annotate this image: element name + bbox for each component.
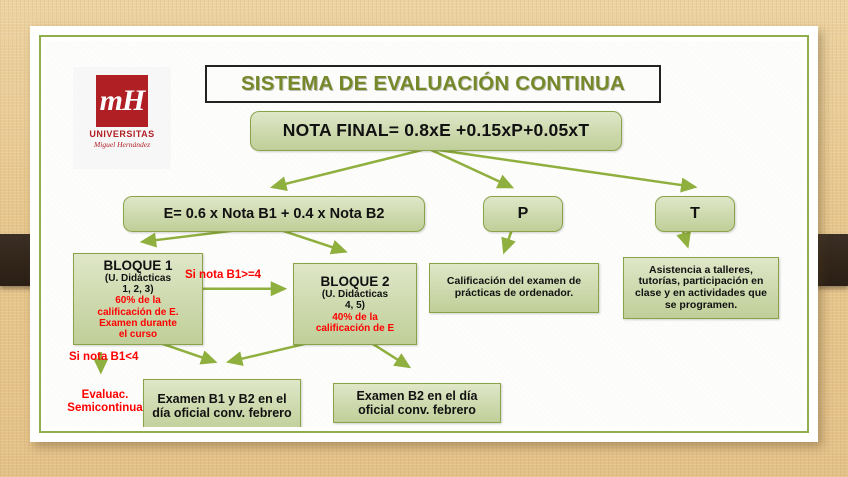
- bloque-2-title: BLOQUE 2: [316, 274, 394, 289]
- node-p: P: [483, 196, 563, 232]
- bloque-1-red-3: Examen durante: [97, 318, 178, 329]
- bloque-1-sub-2: 1, 2, 3): [97, 284, 178, 295]
- node-examen-b1-b2: Examen B1 y B2 en el día oficial conv. f…: [143, 379, 301, 427]
- node-examen-b2: Examen B2 en el día oficial conv. febrer…: [333, 383, 501, 423]
- bloque-2-sub-1: (U. Didácticas: [316, 289, 394, 300]
- bloque-1-red-4: el curso: [97, 329, 178, 340]
- node-t-label: T: [686, 204, 704, 224]
- bloque-1-title: BLOQUE 1: [97, 258, 178, 273]
- node-bloque-1: BLOQUE 1 (U. Didácticas 1, 2, 3) 60% de …: [73, 253, 203, 345]
- node-asistencia-label: Asistencia a talleres, tutorías, partici…: [624, 264, 778, 313]
- slide-frame: mH UNIVERSITAS Miguel Hernández SISTEMA …: [30, 26, 818, 442]
- logo-university-name: Miguel Hernández: [73, 140, 171, 149]
- university-logo: mH UNIVERSITAS Miguel Hernández: [73, 67, 171, 169]
- node-asistencia: Asistencia a talleres, tutorías, partici…: [623, 257, 779, 319]
- node-e-formula-label: E= 0.6 x Nota B1 + 0.4 x Nota B2: [160, 205, 389, 223]
- slide-inner-border: mH UNIVERSITAS Miguel Hernández SISTEMA …: [39, 35, 809, 433]
- node-examen-b1-b2-label: Examen B1 y B2 en el día oficial conv. f…: [144, 391, 300, 421]
- node-nota-final: NOTA FINAL= 0.8xE +0.15xP+0.05xT: [250, 111, 622, 151]
- label-si-nota-b1-menor-4: Si nota B1<4: [69, 351, 138, 364]
- logo-mark: mH: [96, 75, 148, 127]
- bloque-2-sub-2: 4, 5): [316, 300, 394, 311]
- bloque-2-red-1: 40% de la: [316, 312, 394, 323]
- node-calificacion-practicas: Calificación del examen de prácticas de …: [429, 263, 599, 313]
- logo-universitas-text: UNIVERSITAS: [73, 129, 171, 139]
- node-examen-b2-label: Examen B2 en el día oficial conv. febrer…: [334, 388, 500, 418]
- bloque-2-red-2: calificación de E: [316, 323, 394, 334]
- label-si-nota-b1-mayor-igual-4: Si nota B1>=4: [185, 269, 261, 282]
- node-bloque-2: BLOQUE 2 (U. Didácticas 4, 5) 40% de la …: [293, 263, 417, 345]
- node-p-label: P: [514, 204, 533, 224]
- page-title-text: SISTEMA DE EVALUACIÓN CONTINUA: [241, 72, 625, 96]
- node-e-formula: E= 0.6 x Nota B1 + 0.4 x Nota B2: [123, 196, 425, 232]
- bloque-1-sub-1: (U. Didácticas: [97, 273, 178, 284]
- node-t: T: [655, 196, 735, 232]
- bloque-1-red-1: 60% de la: [97, 295, 178, 306]
- label-evaluacion-semicontinua: Evaluac. Semicontinua: [55, 389, 155, 415]
- node-nota-final-label: NOTA FINAL= 0.8xE +0.15xP+0.05xT: [279, 120, 593, 142]
- page-title: SISTEMA DE EVALUACIÓN CONTINUA: [205, 65, 661, 103]
- slide-canvas: mH UNIVERSITAS Miguel Hernández SISTEMA …: [45, 41, 803, 427]
- node-calificacion-practicas-label: Calificación del examen de prácticas de …: [430, 275, 598, 301]
- bloque-1-red-2: calificación de E.: [97, 307, 178, 318]
